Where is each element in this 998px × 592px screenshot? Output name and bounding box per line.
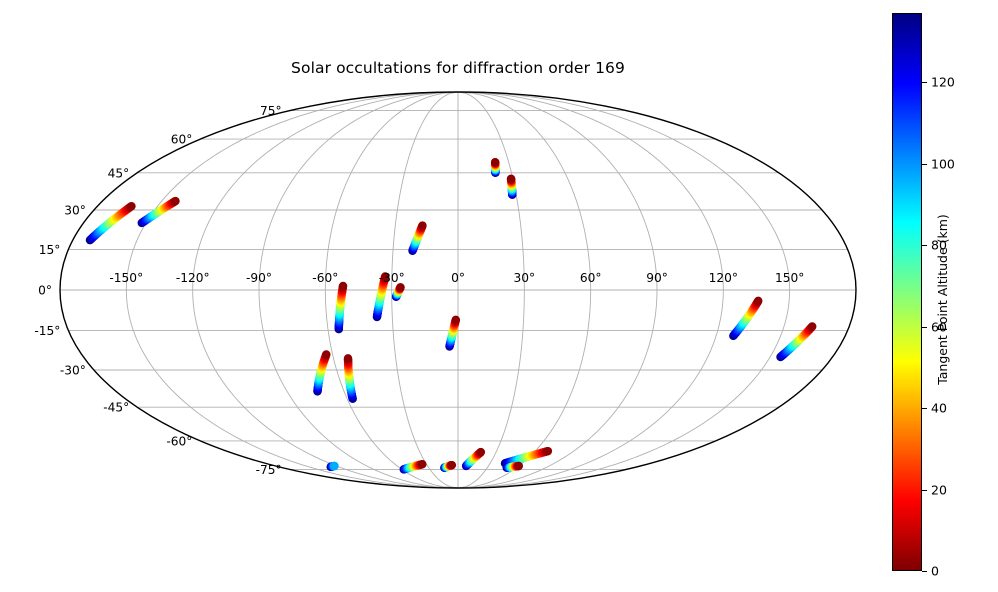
data-point — [754, 297, 762, 305]
colorbar[interactable]: 020406080100120 — [892, 13, 922, 571]
data-point — [418, 221, 426, 229]
lon-tick-label: -90° — [246, 271, 272, 285]
lon-tick-label: -120° — [176, 271, 210, 285]
lon-tick-label: 30° — [513, 271, 535, 285]
colorbar-tick-label: 0 — [931, 564, 939, 579]
lat-tick-label: 45° — [108, 166, 130, 180]
colorbar-label: Tangent Point Altitude (km) — [935, 214, 950, 385]
data-point — [477, 448, 485, 456]
data-point — [322, 350, 330, 358]
graticule-grid — [60, 92, 856, 488]
lon-tick-label: 150° — [775, 271, 804, 285]
colorbar-tick — [922, 571, 927, 572]
lat-tick-label: 30° — [64, 204, 86, 218]
lon-tick-label: 0° — [451, 271, 465, 285]
data-point — [448, 461, 456, 469]
lat-tick-label: 15° — [39, 243, 61, 257]
data-point — [330, 462, 338, 470]
data-point — [418, 460, 426, 468]
occultation-track — [408, 221, 426, 255]
data-point — [452, 316, 460, 324]
occultation-track — [400, 460, 427, 474]
occultation-track — [507, 175, 517, 199]
colorbar-tick-label: 20 — [931, 482, 947, 497]
lon-tick-label: -60° — [312, 271, 338, 285]
data-point — [339, 282, 347, 290]
lat-tick-label: -15° — [34, 324, 60, 338]
data-point — [344, 354, 352, 362]
mollweide-map: -150°-120°-90°-60°-30°0°30°60°90°120°150… — [0, 0, 998, 592]
colorbar-tick — [922, 490, 927, 491]
lon-tick-label: 90° — [646, 271, 668, 285]
occultation-track — [729, 297, 762, 340]
lon-tick-label: -150° — [109, 271, 143, 285]
colorbar-tick-label: 100 — [931, 156, 955, 171]
occultation-track — [335, 282, 348, 334]
lat-tick-label: -45° — [103, 401, 129, 415]
colorbar-tick-label: 120 — [931, 75, 955, 90]
data-point — [808, 322, 816, 330]
figure-canvas: Solar occultations for diffraction order… — [0, 0, 998, 592]
occultation-track — [776, 322, 816, 361]
colorbar-gradient — [892, 13, 922, 571]
data-point — [544, 447, 552, 455]
data-point — [515, 462, 523, 470]
lat-tick-label: -60° — [166, 435, 192, 449]
data-point — [127, 202, 135, 210]
occultation-track — [462, 448, 485, 470]
lat-tick-label: -30° — [60, 364, 86, 378]
axis-tick-labels: -150°-120°-90°-60°-30°0°30°60°90°120°150… — [34, 104, 804, 477]
lat-tick-label: -75° — [256, 463, 282, 477]
colorbar-tick — [922, 82, 927, 83]
colorbar-tick-label: 40 — [931, 401, 947, 416]
occultation-track — [440, 461, 456, 472]
occultation-track — [392, 283, 405, 301]
colorbar-tick — [922, 164, 927, 165]
lat-tick-label: 75° — [260, 104, 282, 118]
occultation-track — [86, 202, 136, 244]
lon-tick-label: -30° — [379, 271, 405, 285]
lon-tick-label: 60° — [580, 271, 602, 285]
occultation-track — [313, 350, 330, 395]
colorbar-tick — [922, 327, 927, 328]
lat-tick-label: 0° — [38, 284, 52, 298]
occultation-track — [138, 197, 180, 227]
colorbar-tick — [922, 245, 927, 246]
data-point — [507, 175, 515, 183]
lon-tick-label: 120° — [709, 271, 738, 285]
occultation-track — [491, 158, 500, 177]
lat-tick-label: 60° — [171, 133, 193, 147]
data-point — [171, 197, 179, 205]
data-point — [491, 158, 499, 166]
colorbar-tick — [922, 408, 927, 409]
